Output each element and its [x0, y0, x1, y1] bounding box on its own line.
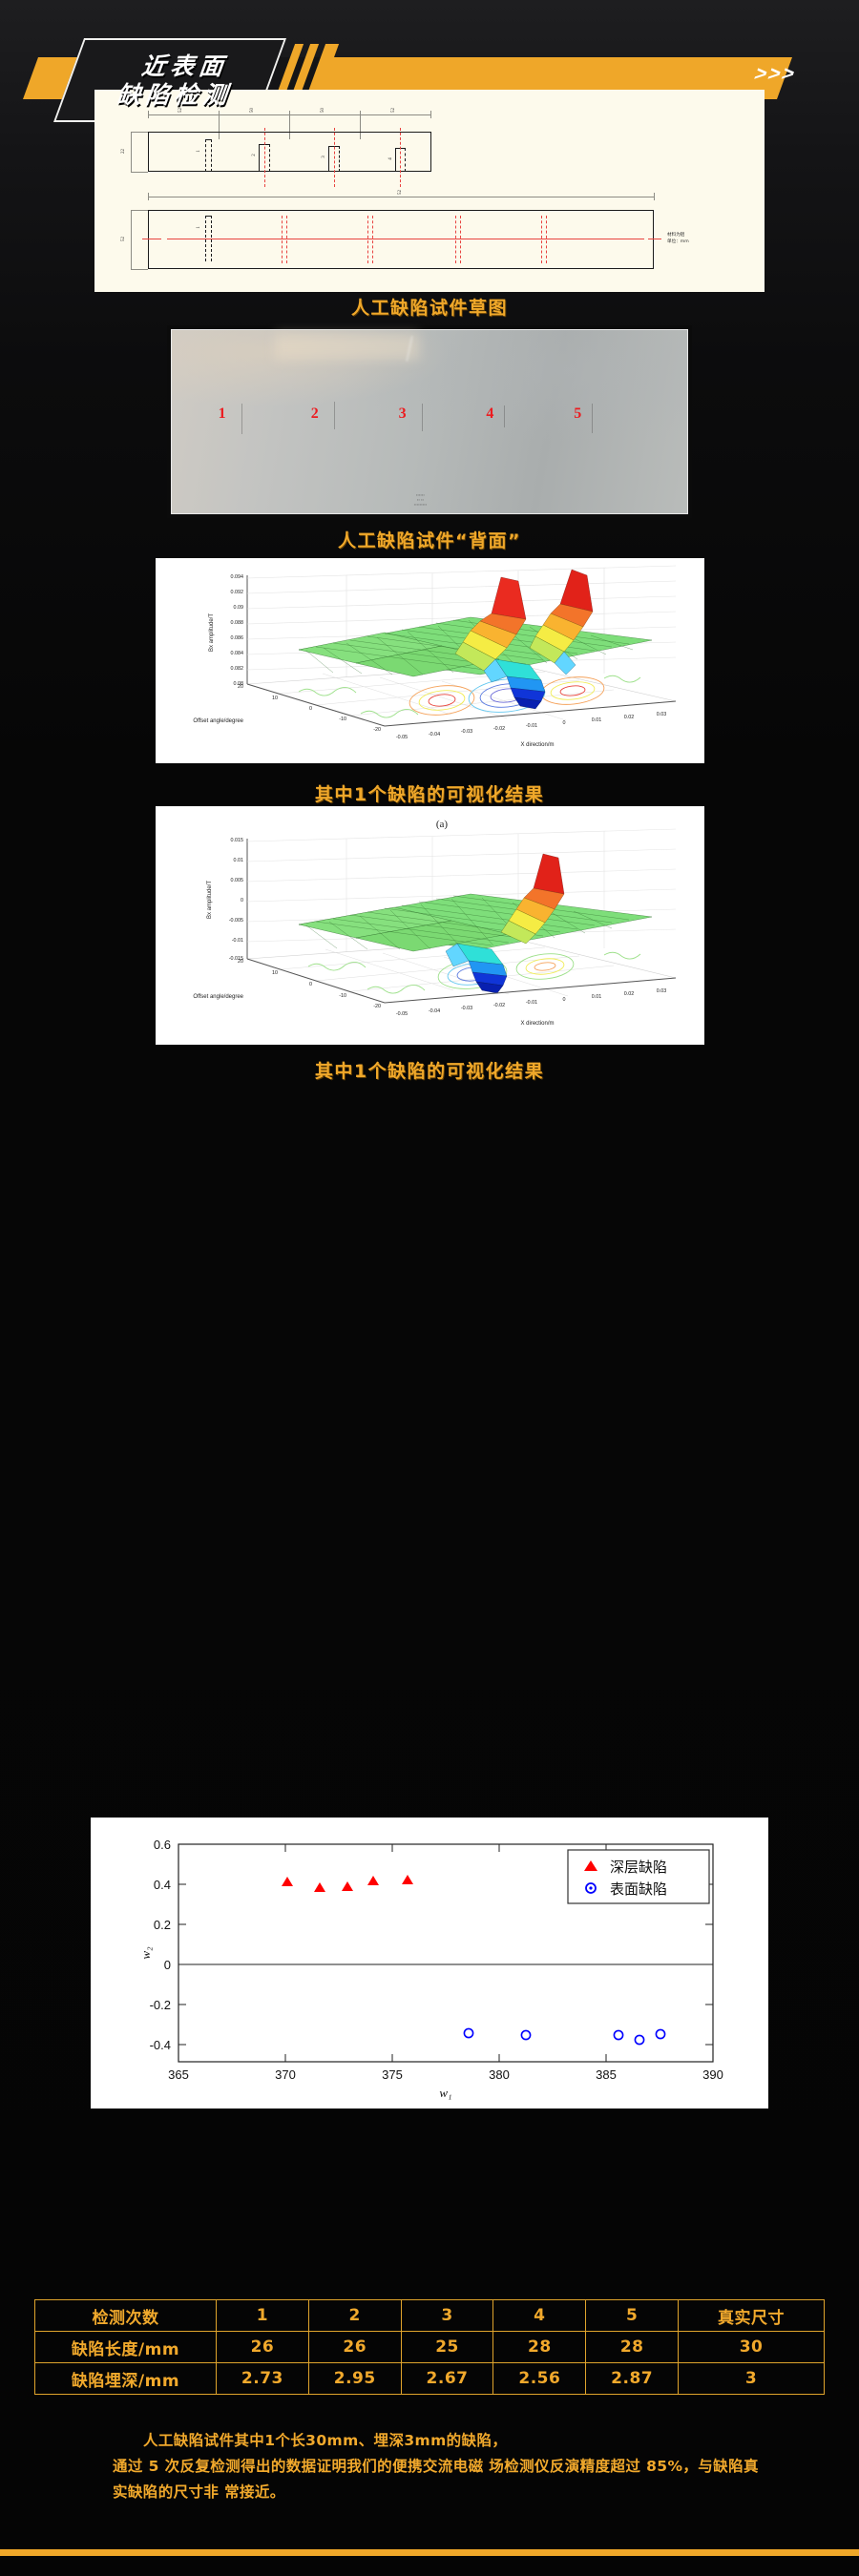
y2-axis-label: Offset angle/degree — [193, 994, 243, 1000]
z2-tick-m001: -0.01 — [232, 938, 243, 944]
scatter-y-tick-06: 0.6 — [154, 1838, 171, 1852]
footer-paragraph: 人工缺陷试件其中1个长30mm、埋深3mm的缺陷， 通过 5 次反复检测得出的数… — [113, 2428, 771, 2505]
caption-surface-plot-1: 其中1个缺陷的可视化结果 — [0, 780, 859, 806]
table-cell: 3 — [679, 2363, 825, 2395]
scatter-y-tick-m02: -0.2 — [150, 1998, 171, 2012]
x2-tick-m005: -0.05 — [396, 1011, 408, 1017]
table-cell: 4 — [493, 2300, 586, 2332]
legend-label-surface: 表面缺陷 — [610, 1880, 667, 1898]
x-tick-m003: -0.03 — [461, 729, 472, 735]
scatter-y-tick-m04: -0.4 — [150, 2038, 171, 2052]
scatter-x-tick-385: 385 — [596, 2067, 617, 2082]
x-tick-m002: -0.02 — [493, 726, 505, 732]
y-axis-label: Offset angle/degree — [193, 718, 243, 724]
table-row-header: 缺陷埋深/mm — [35, 2363, 217, 2395]
panel-label-a: (a) — [436, 819, 449, 830]
table-cell: 真实尺寸 — [679, 2300, 825, 2332]
z2-tick-0005: 0.005 — [231, 878, 244, 883]
page-title: 近表面 缺陷检测 — [72, 42, 291, 120]
plan-defect-label-1: 1 — [197, 226, 201, 229]
x-tick-001: 0.01 — [592, 717, 602, 723]
y-tick-10: 10 — [272, 696, 278, 701]
x2-tick-0: 0 — [563, 997, 566, 1003]
x2-axis-label: X direction/m — [520, 1021, 554, 1027]
z2-tick-0015: 0.015 — [231, 838, 244, 843]
figure-specimen-photo: 1 2 3 4 5 ▪▪▪▪▪▪▪▪ ▪▪▪▪▪▪▪▪▪▪▪ — [167, 325, 692, 518]
table-cell: 5 — [586, 2300, 679, 2332]
photo-marker-4: 4 — [486, 405, 493, 423]
x2-tick-m003: -0.03 — [461, 1006, 472, 1011]
defect-label-3: 3 — [322, 156, 326, 158]
page-title-line-1: 近表面 — [86, 52, 287, 82]
material-note-line-1: 材料为铝 — [667, 233, 689, 239]
z-tick-0094: 0.094 — [231, 574, 244, 580]
dim-top-3: 50 — [321, 108, 325, 113]
y2-tick-m10: -10 — [339, 993, 346, 999]
figure-surface-plot-1: 0.094 0.092 0.09 0.088 0.086 0.084 0.082… — [156, 558, 704, 763]
dim-plan-length: 52 — [398, 190, 403, 195]
surface-plot-1-svg: 0.094 0.092 0.09 0.088 0.086 0.084 0.082… — [156, 558, 704, 763]
z2-tick-m0005: -0.005 — [229, 918, 243, 924]
z-tick-0092: 0.092 — [231, 590, 244, 595]
z2-tick-001: 0.01 — [234, 858, 244, 863]
x2-tick-001: 0.01 — [592, 994, 602, 1000]
x2-tick-m004: -0.04 — [429, 1008, 440, 1014]
caption-surface-plot-2: 其中1个缺陷的可视化结果 — [0, 1057, 859, 1083]
table-cell: 2.56 — [493, 2363, 586, 2395]
scatter-y-axis-label: w₂ — [138, 1946, 153, 1960]
x-axis-label: X direction/m — [520, 742, 554, 748]
photo-marker-3: 3 — [399, 405, 407, 423]
x-tick-m004: -0.04 — [429, 732, 440, 737]
defect-label-1: 1 — [197, 150, 201, 153]
scatter-y-tick-02: 0.2 — [154, 1918, 171, 1932]
table-cell: 2.73 — [217, 2363, 309, 2395]
table-row: 检测次数 1 2 3 4 5 真实尺寸 — [35, 2300, 825, 2332]
x-tick-002: 0.02 — [624, 715, 635, 720]
y-tick-0: 0 — [309, 706, 312, 712]
scatter-x-tick-365: 365 — [168, 2067, 189, 2082]
y2-tick-0: 0 — [309, 982, 312, 987]
dim-plan-width: 52 — [121, 237, 126, 241]
table-cell: 28 — [586, 2332, 679, 2363]
x-tick-m001: -0.01 — [526, 723, 537, 729]
defect-label-2: 2 — [252, 154, 257, 156]
page-title-line-2: 缺陷检测 — [75, 81, 277, 111]
table-cell: 1 — [217, 2300, 309, 2332]
table-cell: 2.67 — [401, 2363, 493, 2395]
z-tick-0088: 0.088 — [231, 620, 244, 626]
table-row: 缺陷长度/mm 26 26 25 28 28 30 — [35, 2332, 825, 2363]
specimen-photo-image: 1 2 3 4 5 ▪▪▪▪▪▪▪▪ ▪▪▪▪▪▪▪▪▪▪▪ — [171, 329, 688, 514]
table-row: 缺陷埋深/mm 2.73 2.95 2.67 2.56 2.87 3 — [35, 2363, 825, 2395]
scatter-y-tick-04: 0.4 — [154, 1878, 171, 1892]
photo-marker-5: 5 — [574, 405, 581, 423]
z-tick-0086: 0.086 — [231, 635, 244, 641]
figure-scatter-chart: 0.6 0.4 0.2 0 -0.2 -0.4 — [91, 1818, 768, 2109]
y2-tick-20: 20 — [238, 959, 243, 965]
table-row-header: 缺陷长度/mm — [35, 2332, 217, 2363]
scatter-x-axis-label: w₁ — [439, 2086, 451, 2100]
x-tick-003: 0.03 — [657, 712, 667, 717]
table-cell: 3 — [401, 2300, 493, 2332]
x2-tick-002: 0.02 — [624, 991, 635, 997]
poster-page: 近表面 缺陷检测 >>> 52 50 50 52 22 — [0, 0, 859, 2576]
table-cell: 26 — [308, 2332, 401, 2363]
caption-specimen-photo: 人工缺陷试件“背面” — [0, 527, 859, 552]
y-tick-20: 20 — [238, 684, 243, 690]
scatter-y-tick-0: 0 — [164, 1958, 171, 1972]
caption-technical-drawing: 人工缺陷试件草图 — [0, 294, 859, 320]
y-tick-m20: -20 — [373, 727, 381, 733]
x2-tick-003: 0.03 — [657, 988, 667, 994]
results-table: 检测次数 1 2 3 4 5 真实尺寸 缺陷长度/mm 26 26 25 28 … — [34, 2299, 825, 2395]
material-note: 材料为铝 单位：mm — [667, 233, 689, 246]
dim-side-height: 22 — [121, 149, 126, 154]
legend-label-deep: 深层缺陷 — [610, 1859, 667, 1876]
footer-line-1: 人工缺陷试件其中1个长30mm、埋深3mm的缺陷， — [113, 2428, 771, 2454]
scatter-x-tick-370: 370 — [275, 2067, 296, 2082]
scatter-x-tick-375: 375 — [382, 2067, 403, 2082]
scatter-x-tick-390: 390 — [702, 2067, 723, 2082]
material-note-line-2: 单位：mm — [667, 239, 689, 246]
z-axis-label: Bx amplitude/T — [209, 613, 215, 652]
x-tick-m005: -0.05 — [396, 735, 408, 740]
z2-tick-0: 0 — [241, 898, 243, 904]
z-tick-009: 0.09 — [234, 605, 244, 611]
x-tick-0: 0 — [563, 720, 566, 726]
footer-line-2: 通过 5 次反复检测得出的数据证明我们的便携交流电磁 — [113, 2458, 483, 2475]
table-cell: 2.87 — [586, 2363, 679, 2395]
z-tick-0082: 0.082 — [231, 666, 244, 672]
x2-tick-m001: -0.01 — [526, 1000, 537, 1006]
z2-axis-label: Bx amplitude/T — [207, 881, 213, 919]
x2-tick-m002: -0.02 — [493, 1003, 505, 1008]
figure-surface-plot-2: (a) 0.015 0.01 0.005 0 -0.005 -0.01 -0.0… — [156, 806, 704, 1045]
table-cell: 28 — [493, 2332, 586, 2363]
table-row-header: 检测次数 — [35, 2300, 217, 2332]
table-cell: 2.95 — [308, 2363, 401, 2395]
footer-line-4: 常接近。 — [224, 2483, 285, 2501]
z-tick-0084: 0.084 — [231, 651, 244, 656]
footer-accent-rule — [0, 2549, 859, 2556]
photo-marker-1: 1 — [219, 405, 226, 423]
defect-label-4: 4 — [388, 157, 393, 160]
y2-tick-m20: -20 — [373, 1004, 381, 1009]
chevron-right-icon: >>> — [751, 63, 801, 86]
table-cell: 26 — [217, 2332, 309, 2363]
legend-marker-surface-dot — [589, 1886, 592, 1889]
table-cell: 2 — [308, 2300, 401, 2332]
photo-marker-2: 2 — [311, 405, 319, 423]
y-tick-m10: -10 — [339, 717, 346, 722]
photo-stamp: ▪▪▪▪▪▪▪▪ ▪▪▪▪▪▪▪▪▪▪▪ — [414, 493, 428, 508]
dim-top-4: 52 — [391, 108, 396, 113]
y2-tick-10: 10 — [272, 970, 278, 976]
table-cell: 30 — [679, 2332, 825, 2363]
scatter-chart-svg: 0.6 0.4 0.2 0 -0.2 -0.4 — [91, 1818, 768, 2109]
table-cell: 25 — [401, 2332, 493, 2363]
surface-plot-2-svg: (a) 0.015 0.01 0.005 0 -0.005 -0.01 -0.0… — [156, 806, 704, 1045]
scatter-x-tick-380: 380 — [489, 2067, 510, 2082]
